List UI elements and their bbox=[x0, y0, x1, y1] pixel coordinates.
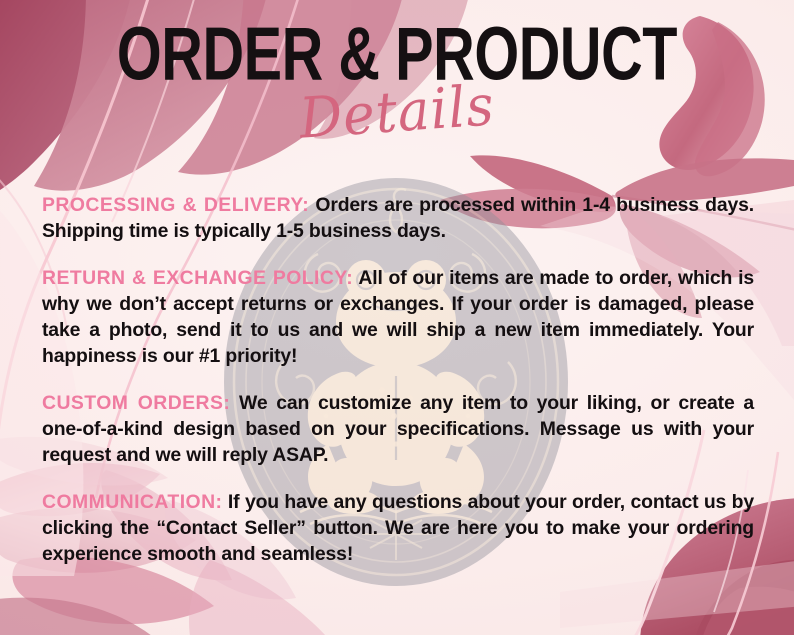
section-label-communication: COMMUNICATION: bbox=[42, 491, 222, 513]
section-communication: COMMUNICATION: If you have any questions… bbox=[42, 489, 754, 567]
section-label-return-exchange-policy: RETURN & EXCHANGE POLICY: bbox=[42, 267, 353, 289]
section-custom-orders: CUSTOM ORDERS: We can customize any item… bbox=[42, 390, 754, 468]
section-return-exchange-policy: RETURN & EXCHANGE POLICY: All of our ite… bbox=[42, 265, 754, 369]
section-label-custom-orders: CUSTOM ORDERS: bbox=[42, 392, 230, 414]
section-label-processing-delivery: PROCESSING & DELIVERY: bbox=[42, 194, 309, 216]
section-processing-delivery: PROCESSING & DELIVERY: Orders are proces… bbox=[42, 192, 754, 244]
header: ORDER & PRODUCT Details bbox=[0, 0, 794, 135]
order-and-product-details-card: ORDER & PRODUCT Details PROCESSING & DEL… bbox=[0, 0, 794, 635]
details-sections: PROCESSING & DELIVERY: Orders are proces… bbox=[42, 192, 754, 567]
